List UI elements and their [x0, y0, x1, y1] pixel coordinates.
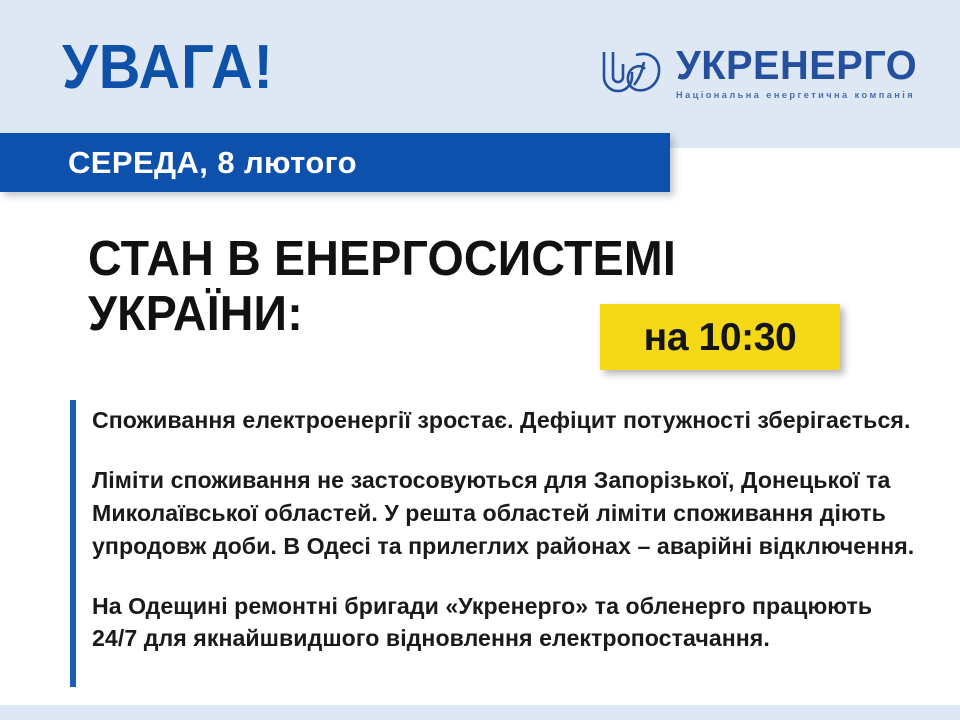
time-badge: на 10:30: [600, 304, 840, 370]
ukrenergo-logo: УКРЕНЕРГО Національна енергетична компан…: [598, 44, 918, 106]
page-title-line-1: СТАН В ЕНЕРГОСИСТЕМІ: [88, 232, 867, 287]
logo-text-block: УКРЕНЕРГО Національна енергетична компан…: [676, 44, 925, 100]
body-text-block: Споживання електроенергії зростає. Дефіц…: [92, 404, 928, 655]
time-badge-label: на 10:30: [644, 318, 797, 357]
body-paragraph: Ліміти споживання не застосовуються для …: [92, 464, 915, 563]
logo-wordmark: УКРЕНЕРГО: [676, 44, 917, 87]
body-paragraph: Споживання електроенергії зростає. Дефіц…: [92, 404, 915, 437]
body-accent-bar: [70, 400, 76, 687]
date-label: СЕРЕДА, 8 лютого: [68, 147, 357, 178]
attention-title: УВАГА!: [62, 37, 274, 99]
bottom-strip: [0, 705, 960, 720]
logo-tagline: Національна енергетична компанія: [676, 90, 925, 100]
body-paragraph: На Одещині ремонтні бригади «Укренерго» …: [92, 590, 915, 656]
ukrenergo-leaf-mark: [598, 46, 664, 102]
announcement-poster: УВАГА! УКРЕНЕРГО Національна енергетична…: [0, 0, 960, 720]
